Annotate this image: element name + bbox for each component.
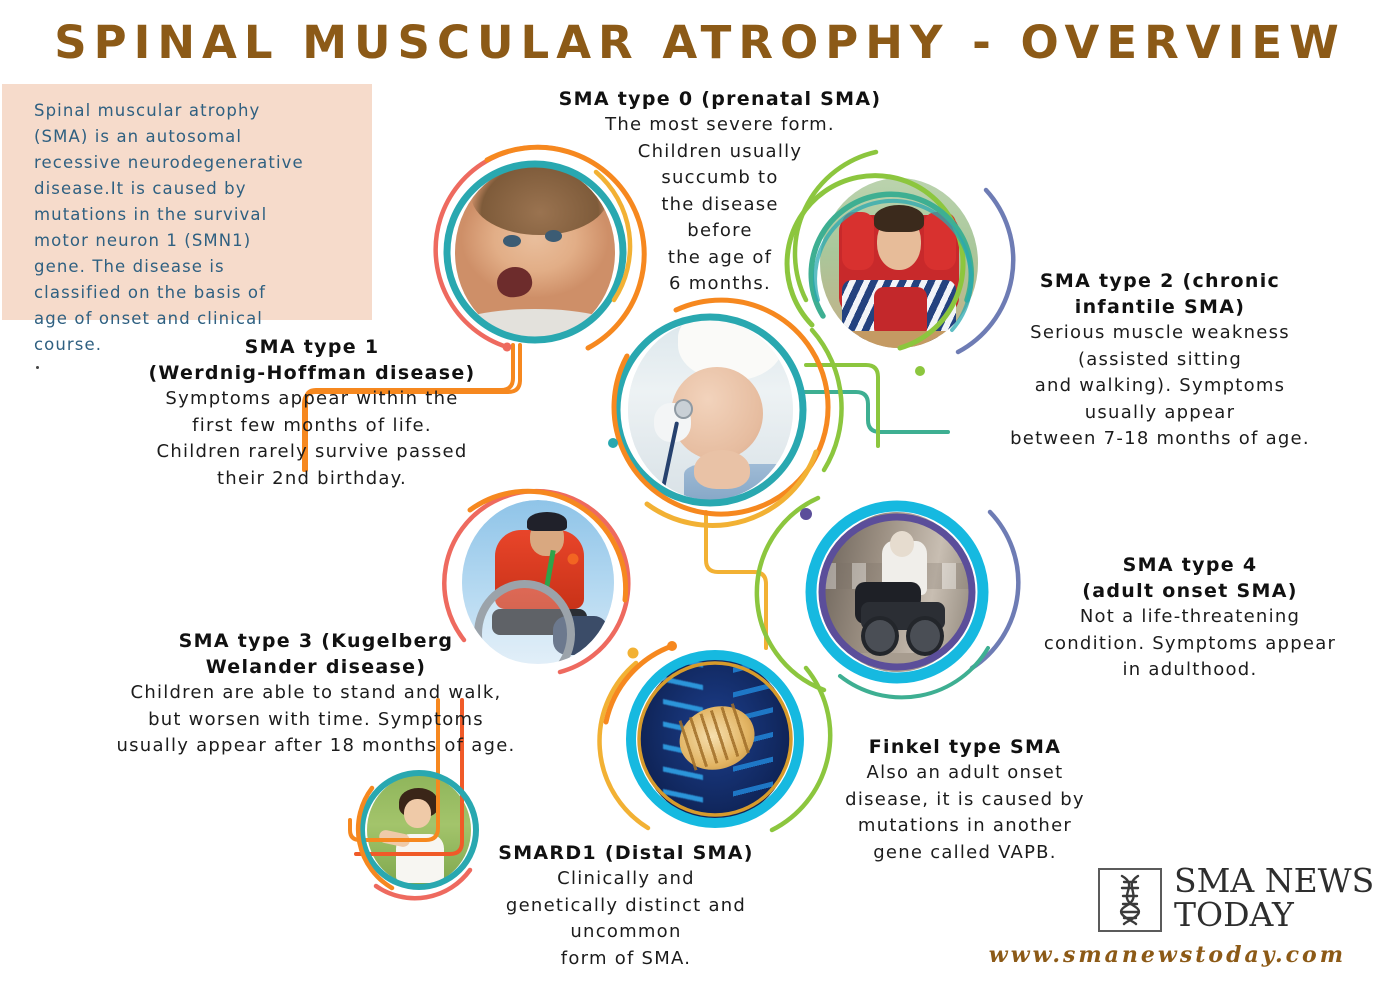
connector-right-upper — [800, 392, 948, 432]
infographic-canvas: SPINAL MUSCULAR ATROPHY - OVERVIEW Spina… — [0, 0, 1400, 990]
text-block-finkel-type: Finkel type SMA Also an adult onset dise… — [800, 734, 1130, 866]
heading-sma-type-3: SMA type 3 (Kugelberg Welander disease) — [56, 628, 576, 680]
connector-center-lower — [706, 512, 766, 648]
body-smard1: Clinically and genetically distinct and … — [466, 866, 786, 972]
text-block-sma-type-4: SMA type 4 (adult onset SMA) Not a life-… — [1010, 552, 1370, 684]
ring-center-green — [812, 330, 842, 470]
text-block-sma-type-2: SMA type 2 (chronic infantile SMA) Serio… — [960, 268, 1360, 453]
photo-dna-helix — [639, 658, 791, 820]
dot-type4-purple — [800, 508, 812, 520]
dot-dna-amber — [628, 648, 639, 659]
body-finkel-type: Also an adult onset disease, it is cause… — [800, 760, 1130, 866]
heading-sma-type-4: SMA type 4 (adult onset SMA) — [1010, 552, 1370, 604]
page-title: SPINAL MUSCULAR ATROPHY - OVERVIEW — [0, 16, 1400, 69]
body-sma-type-2: Serious muscle weakness (assisted sittin… — [960, 320, 1360, 453]
photo-pregnant-exam — [628, 320, 793, 500]
decorative-dot — [36, 366, 39, 369]
intro-description-box: Spinal muscular atrophy (SMA) is an auto… — [2, 84, 372, 320]
body-sma-type-0: The most severe form. Children usually s… — [500, 112, 940, 298]
brand-logo: SMA NEWSTODAY — [1098, 866, 1328, 936]
heading-finkel-type: Finkel type SMA — [800, 734, 1130, 760]
body-sma-type-1: Symptoms appear within the first few mon… — [92, 386, 532, 492]
heading-sma-type-2: SMA type 2 (chronic infantile SMA) — [960, 268, 1360, 320]
website-url[interactable]: www.smanewstoday.com — [916, 942, 1346, 968]
heading-sma-type-1: SMA type 1 (Werdnig-Hoffman disease) — [92, 334, 532, 386]
body-sma-type-4: Not a life-threatening condition. Sympto… — [1010, 604, 1370, 684]
dna-helix-icon — [1098, 868, 1162, 932]
text-block-sma-type-3: SMA type 3 (Kugelberg Welander disease) … — [56, 628, 576, 760]
brand-name: SMA NEWSTODAY — [1174, 864, 1400, 932]
photo-power-wheelchair — [822, 512, 972, 672]
photo-child-in-grass — [367, 775, 471, 885]
intro-description-text: Spinal muscular atrophy (SMA) is an auto… — [34, 98, 350, 358]
text-block-sma-type-0: SMA type 0 (prenatal SMA) The most sever… — [500, 86, 940, 298]
connector-green-right — [806, 365, 878, 446]
dot-dna-orange — [667, 641, 677, 651]
brand-name-line2: TODAY — [1174, 895, 1294, 934]
dot-center-teal — [608, 438, 618, 448]
heading-smard1: SMARD1 (Distal SMA) — [466, 840, 786, 866]
text-block-sma-type-1: SMA type 1 (Werdnig-Hoffman disease) Sym… — [92, 334, 532, 492]
text-block-smard1: SMARD1 (Distal SMA) Clinically and genet… — [466, 840, 786, 972]
body-sma-type-3: Children are able to stand and walk, but… — [56, 680, 576, 760]
heading-sma-type-0: SMA type 0 (prenatal SMA) — [500, 86, 940, 112]
dot-boy-green — [915, 366, 925, 376]
